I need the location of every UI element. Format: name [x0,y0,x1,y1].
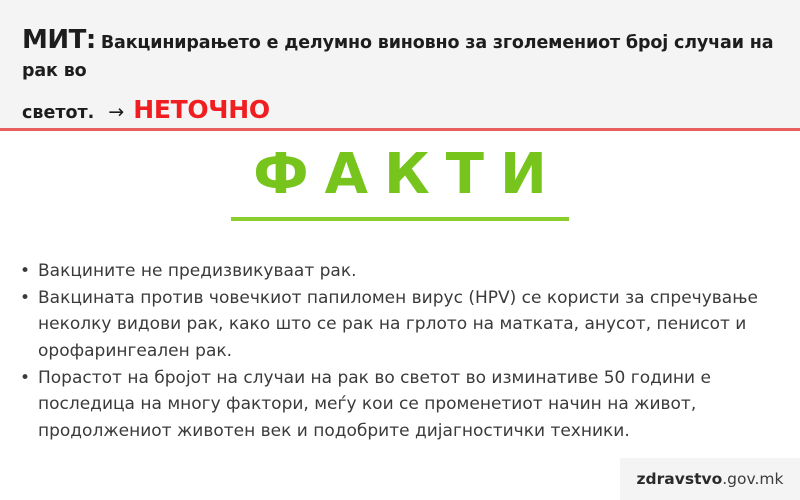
list-item: • Вакцините не предизвикуваат рак. [16,258,778,285]
header-divider [0,128,800,131]
myth-label: МИТ: [22,25,96,55]
facts-title: ФАКТИ [237,146,563,205]
site-name: zdravstvo [637,470,723,488]
bullet-icon: • [16,258,38,285]
site-domain: .gov.mk [722,470,783,488]
list-item: • Вакцината против човечкиот папиломен в… [16,285,778,365]
list-item-text: Порастот на бројот на случаи на рак во с… [38,365,778,445]
myth-statement-tail: светот. [22,103,94,123]
arrow-right-icon: → [108,101,124,123]
list-item-text: Вакцините не предизвикуваат рак. [38,258,778,285]
bullet-icon: • [16,285,38,312]
myth-header-band: МИТ: Вакцинирањето е делумно виновно за … [0,0,800,130]
facts-list: • Вакцините не предизвикуваат рак. • Вак… [16,258,778,445]
myth-verdict-row: светот. → НЕТОЧНО [22,95,778,124]
facts-title-underline [231,217,569,221]
list-item-text: Вакцината против човечкиот папиломен вир… [38,285,778,365]
list-item: • Порастот на бројот на случаи на рак во… [16,365,778,445]
myth-statement-line: МИТ: Вакцинирањето е делумно виновно за … [22,22,778,84]
myth-statement-text: Вакцинирањето е делумно виновно за зголе… [22,33,773,81]
bullet-icon: • [16,365,38,392]
site-attribution: zdravstvo.gov.mk [637,470,784,488]
facts-title-block: ФАКТИ [0,146,800,221]
footer-bar: zdravstvo.gov.mk [620,458,800,500]
verdict-badge: НЕТОЧНО [133,95,270,124]
